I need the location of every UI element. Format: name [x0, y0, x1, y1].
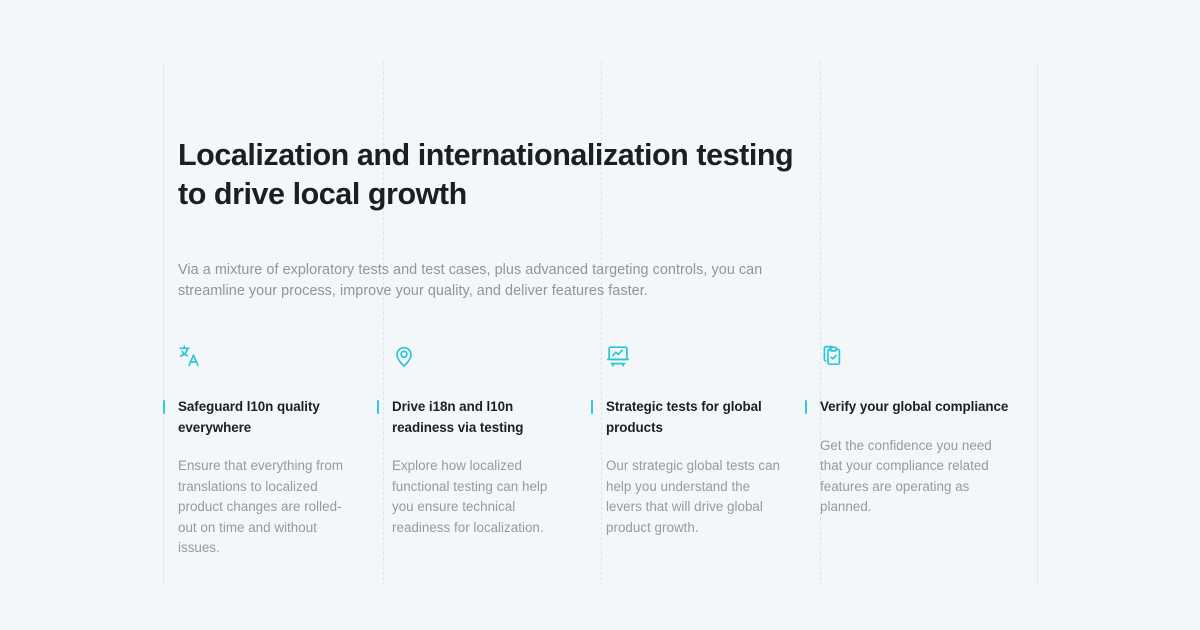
feature-card-heading-row: Safeguard l10n quality everywhere — [163, 397, 358, 438]
feature-card-body: Ensure that everything from translations… — [178, 438, 358, 559]
rule-left-border — [163, 62, 165, 585]
feature-card-heading-row: Drive i18n and l10n readiness via testin… — [377, 397, 572, 438]
feature-card-body: Our strategic global tests can help you … — [606, 438, 786, 538]
feature-card-heading-row: Verify your global compliance — [805, 397, 1004, 418]
feature-card-title: Strategic tests for global products — [606, 397, 786, 438]
clipboard-check-icon — [820, 344, 1004, 370]
accent-bar — [163, 400, 165, 414]
page-subtitle: Via a mixture of exploratory tests and t… — [178, 214, 808, 302]
feature-card-title: Safeguard l10n quality everywhere — [178, 397, 358, 438]
page-root: Localization and internationalization te… — [0, 0, 1200, 630]
page-title: Localization and internationalization te… — [178, 62, 818, 214]
map-pin-icon — [392, 344, 572, 370]
feature-card: Verify your global compliance Get the co… — [820, 344, 1038, 559]
feature-card: Strategic tests for global products Our … — [606, 344, 820, 559]
feature-card-body: Get the confidence you need that your co… — [820, 418, 1004, 518]
accent-bar — [805, 400, 807, 414]
presentation-chart-icon — [606, 344, 786, 370]
translate-icon — [178, 344, 358, 370]
accent-bar — [591, 400, 593, 414]
feature-card-body: Explore how localized functional testing… — [392, 438, 572, 538]
feature-card-list: Safeguard l10n quality everywhere Ensure… — [178, 302, 1038, 559]
feature-card-title: Verify your global compliance — [820, 397, 1004, 418]
feature-card: Drive i18n and l10n readiness via testin… — [392, 344, 606, 559]
feature-card-heading-row: Strategic tests for global products — [591, 397, 786, 438]
feature-card: Safeguard l10n quality everywhere Ensure… — [178, 344, 392, 559]
feature-card-title: Drive i18n and l10n readiness via testin… — [392, 397, 572, 438]
content-container: Localization and internationalization te… — [178, 62, 1038, 559]
accent-bar — [377, 400, 379, 414]
